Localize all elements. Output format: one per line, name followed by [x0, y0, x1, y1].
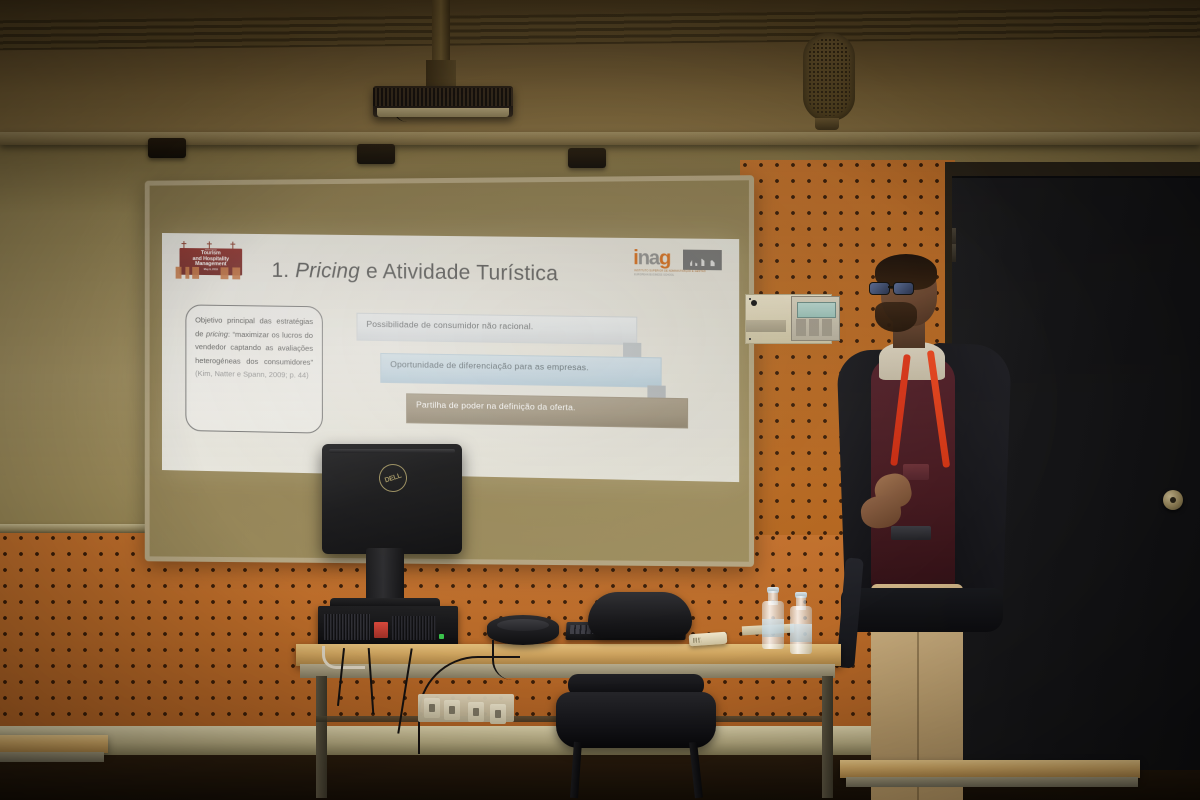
quote-italic-word: pricing	[206, 329, 228, 338]
slide-title-rest: e Atividade Turística	[360, 260, 558, 285]
pc-power-led-icon	[439, 634, 444, 639]
power-outlet[interactable]	[490, 704, 506, 724]
black-stacking-chair[interactable]	[554, 592, 724, 800]
power-outlet[interactable]	[444, 700, 460, 720]
chair-leg	[689, 742, 703, 799]
held-device	[891, 526, 931, 540]
chair-leg	[570, 742, 582, 798]
arrow-box-2-text: Oportunidade de diferenciação para as em…	[390, 359, 651, 375]
chair-seat	[556, 692, 716, 748]
power-outlet[interactable]	[468, 702, 484, 722]
quote-citation: (Kim, Natter e Spann, 2009; p. 44)	[195, 369, 309, 380]
beard	[875, 302, 917, 332]
wall-label-plate	[746, 320, 786, 332]
screw-icon	[749, 338, 751, 340]
arrow-box-possibilidade: Possibilidade de consumidor não racional…	[356, 313, 637, 345]
dell-logo-icon: DELL	[375, 460, 410, 495]
slide-title: 1. Pricing e Atividade Turística	[272, 259, 672, 288]
speaker-bracket	[815, 118, 839, 130]
isag-mark-icon	[683, 250, 722, 271]
slide-title-number: 1.	[272, 259, 290, 282]
dell-monitor-rear: DELL	[322, 444, 462, 554]
av-desk-leg	[822, 676, 833, 798]
lecture-room-photo: Workshop Tourism and Hospitality Managem…	[0, 0, 1200, 800]
student-desk-right-apron	[846, 777, 1138, 787]
slide-title-keyword: Pricing	[295, 259, 360, 283]
projector-lens-icon	[377, 108, 509, 117]
blazer-hem	[841, 588, 1003, 632]
tourism-hospitality-workshop-logo: Workshop Tourism and Hospitality Managem…	[176, 241, 246, 279]
ceiling-light-icon	[568, 148, 606, 168]
monitor-stand-neck	[366, 548, 404, 602]
water-bottle	[762, 587, 784, 649]
av-desk-leg	[316, 676, 327, 798]
water-bottle	[790, 592, 812, 654]
pc-vent-grille	[392, 616, 436, 640]
quote-callout: Objetivo principal das estratégias de pr…	[185, 304, 322, 433]
pc-audio-ports	[374, 622, 388, 638]
arrow-box-3-text: Partilha de poder na definição da oferta…	[416, 399, 678, 415]
arrow-box-partilha: Partilha de poder na definição da oferta…	[406, 393, 688, 428]
arrow-box-1-text: Possibilidade de consumidor não racional…	[366, 319, 627, 334]
power-outlet[interactable]	[424, 698, 440, 718]
presenter-standing	[835, 258, 1025, 800]
student-desk-left	[0, 735, 108, 753]
keypad-lcd-screen	[797, 302, 836, 318]
glasses-right-lens	[893, 282, 914, 295]
pc-vent-grille	[324, 614, 370, 640]
sensor-dot-icon	[751, 300, 757, 306]
door-knob-icon[interactable]	[1163, 490, 1183, 510]
student-desk-right	[840, 760, 1140, 778]
keypad-buttons[interactable]	[796, 319, 835, 336]
monitor-ridge	[329, 449, 455, 453]
bottle-label	[790, 624, 812, 642]
wall-speaker-icon	[803, 33, 855, 121]
glasses-left-lens	[869, 282, 890, 295]
chair-backrest	[588, 592, 692, 638]
arrow-box-oportunidade: Oportunidade de diferenciação para as em…	[380, 353, 661, 388]
projector-vent	[373, 88, 513, 106]
glasses-icon	[869, 282, 915, 293]
ceiling-light-icon	[148, 138, 186, 158]
student-desk-left-apron	[0, 752, 104, 762]
screw-icon	[749, 298, 751, 300]
bottle-label	[762, 619, 784, 637]
ceiling-light-icon	[357, 144, 395, 164]
ceiling-projector	[373, 86, 513, 117]
av-control-keypad[interactable]	[791, 296, 840, 341]
